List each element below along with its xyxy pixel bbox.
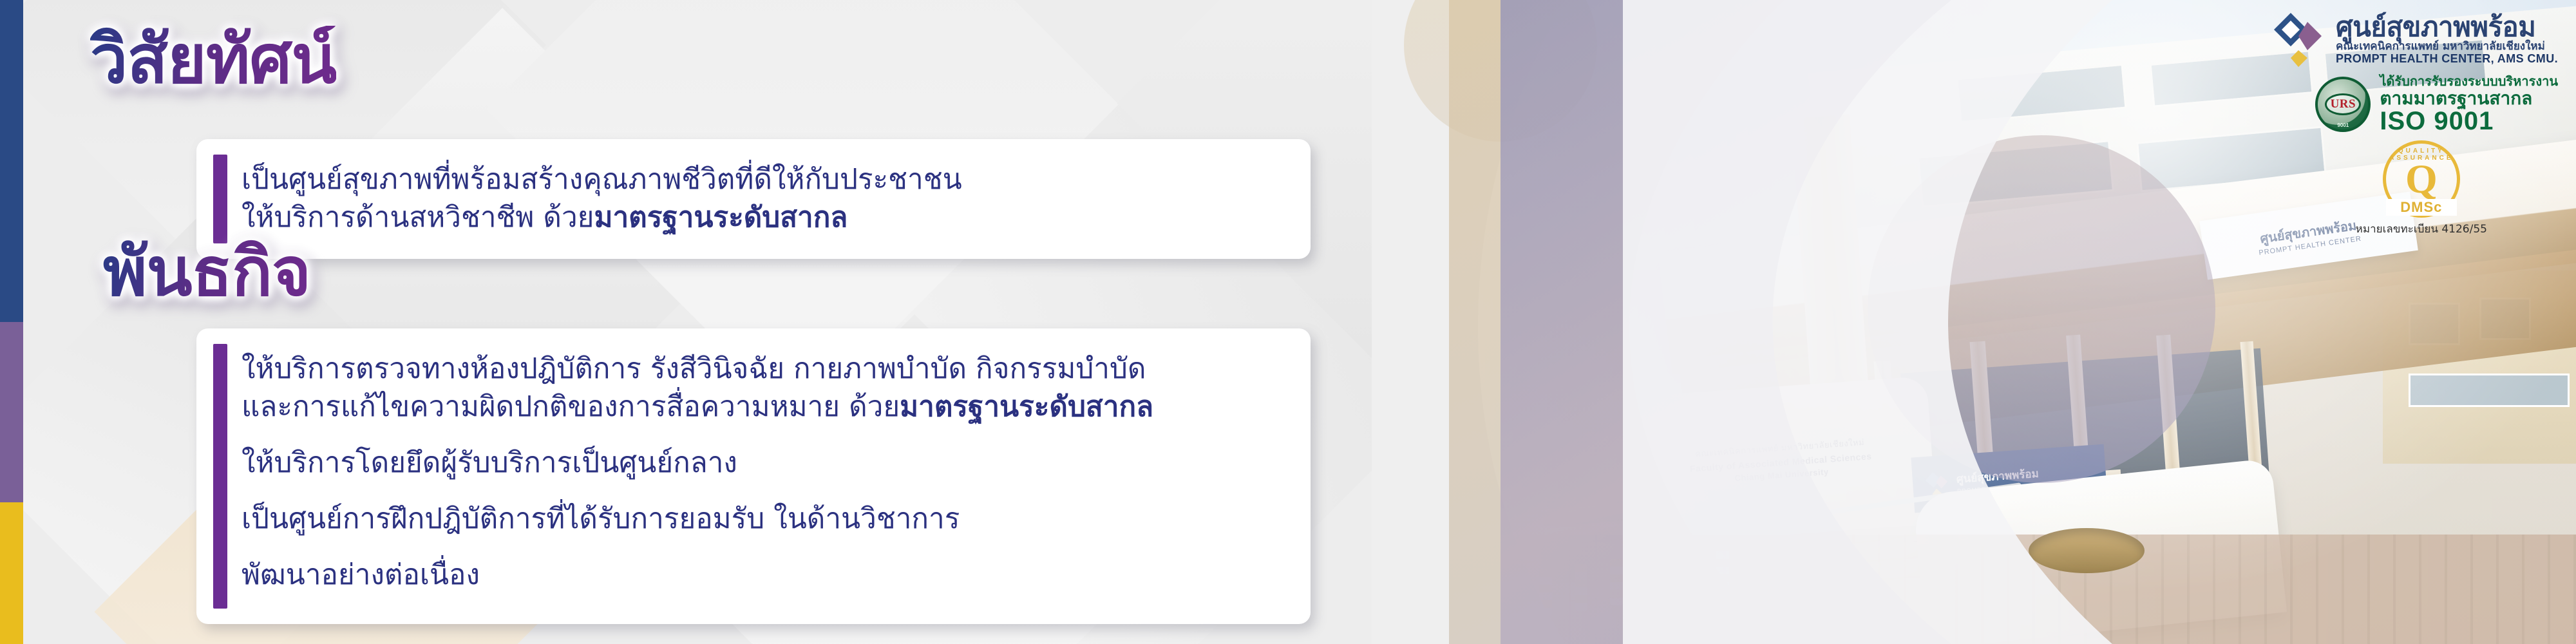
iso-line-1: ได้รับการรับรองระบบบริหารงาน <box>2380 75 2558 89</box>
spacer <box>241 538 1280 556</box>
mission-line: ให้บริการตรวจทางห้องปฎิบัติการ รังสีวินิ… <box>241 350 1280 388</box>
registration-number: หมายเลขทะเบียน 4126/55 <box>2356 220 2487 238</box>
mission-line: ให้บริการโดยยึดผู้รับบริการเป็นศูนย์กลาง <box>241 444 1280 482</box>
brand-name-th: ศูนย์สุขภาพพร้อม <box>2336 13 2558 41</box>
mission-item: พัฒนาอย่างต่อเนื่อง <box>241 556 1280 594</box>
vision-line: เป็นศูนย์สุขภาพที่พร้อมสร้างคุณภาพชีวิตท… <box>241 161 1280 199</box>
brand-lockup: ศูนย์สุขภาพพร้อม คณะเทคนิคการแพทย์ มหาวิ… <box>2266 9 2558 68</box>
prompt-health-center-diamond-logo-icon <box>2266 9 2325 68</box>
mission-item: เป็นศูนย์การฝึกปฎิบัติการที่ได้รับการยอม… <box>241 500 1280 538</box>
vision-heading: วิสัยทัศน์ <box>90 26 336 93</box>
brand-faculty-th: คณะเทคนิคการแพทย์ มหาวิทยาลัยเชียงใหม่ <box>2336 41 2558 53</box>
q-arc-bottom-text: DMSc <box>2386 199 2457 216</box>
spacer <box>241 482 1280 500</box>
mission-line: และการแก้ไขความผิดปกติของการสื่อความหมาย… <box>241 388 1280 426</box>
brand-and-certifications: ศูนย์สุขภาพพร้อม คณะเทคนิคการแพทย์ มหาวิ… <box>2159 9 2558 238</box>
mission-heading: พันธกิจ <box>103 238 310 305</box>
brand-name-en: PROMPT HEALTH CENTER, AMS CMU. <box>2336 53 2558 65</box>
iso-standard: ISO 9001 <box>2380 108 2494 134</box>
mission-item: ให้บริการโดยยึดผู้รับบริการเป็นศูนย์กลาง <box>241 444 1280 482</box>
iso-9001-badge: URS 9001 ได้รับการรับรองระบบบริหารงาน ตา… <box>2315 75 2558 134</box>
vision-mission-banner: ศูนย์สุขภาพพร้อม PROMPT HEALTH CENTER คณ… <box>0 0 2576 644</box>
vision-line: ให้บริการด้านสหวิชาชีพ ด้วยมาตรฐานระดับส… <box>241 199 1280 237</box>
q-letter: Q <box>2405 158 2438 200</box>
mission-line: พัฒนาอย่างต่อเนื่อง <box>241 556 1280 594</box>
dmsc-quality-assurance-seal-icon: QUALITY ASSURANCE Q DMSc <box>2383 140 2460 218</box>
iso-line-2: ตามมาตรฐานสากล <box>2380 89 2532 108</box>
q-arc-top-text: QUALITY ASSURANCE <box>2386 147 2457 162</box>
mission-item: ให้บริการตรวจทางห้องปฎิบัติการ รังสีวินิ… <box>241 350 1280 426</box>
dmsc-quality-badge: QUALITY ASSURANCE Q DMSc หมายเลขทะเบียน … <box>2356 140 2487 238</box>
urs-seal-text: URS <box>2325 93 2361 115</box>
content-column: วิสัยทัศน์ เป็นศูนย์สุขภาพที่พร้อมสร้างค… <box>0 0 1352 644</box>
vision-card: เป็นศูนย์สุขภาพที่พร้อมสร้างคุณภาพชีวิตท… <box>196 139 1311 259</box>
mission-line: เป็นศูนย์การฝึกปฎิบัติการที่ได้รับการยอม… <box>241 500 1280 538</box>
urs-registrar-seal-icon: URS 9001 <box>2315 77 2371 132</box>
mission-card: ให้บริการตรวจทางห้องปฎิบัติการ รังสีวินิ… <box>196 328 1311 624</box>
urs-seal-footer: 9001 <box>2316 122 2369 128</box>
spacer <box>241 426 1280 444</box>
